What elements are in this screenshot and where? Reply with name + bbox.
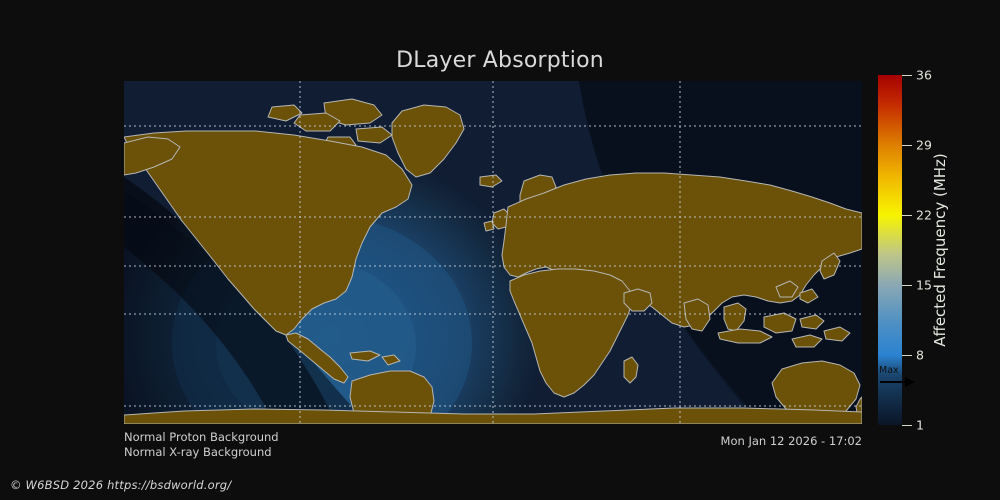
colorbar-tick-36 [902, 75, 912, 76]
colorbar-tick-1 [902, 425, 912, 426]
status-xray-background: Normal X-ray Background [124, 445, 272, 459]
colorbar-tick-29 [902, 145, 912, 146]
map-svg [124, 81, 862, 424]
page-title: DLayer Absorption [0, 48, 1000, 73]
colorbar-axis-label-text: Affected Frequency (MHz) [931, 153, 949, 347]
colorbar-ticklabel-1: 1 [916, 418, 924, 433]
figure-canvas: DLayer Absorption [0, 0, 1000, 500]
colorbar-tick-8 [902, 355, 912, 356]
world-map[interactable] [124, 81, 862, 424]
colorbar-tick-22 [902, 215, 912, 216]
timestamp: Mon Jan 12 2026 - 17:02 [721, 434, 862, 448]
copyright-footer: © W6BSD 2026 https://bsdworld.org/ [10, 478, 231, 492]
colorbar[interactable]: 1815222936 [878, 75, 902, 425]
status-proton-background: Normal Proton Background [124, 430, 279, 444]
colorbar-axis-label: Affected Frequency (MHz) [930, 75, 950, 425]
colorbar-tick-15 [902, 285, 912, 286]
colorbar-gradient [878, 75, 902, 425]
colorbar-ticklabel-8: 8 [916, 348, 924, 363]
